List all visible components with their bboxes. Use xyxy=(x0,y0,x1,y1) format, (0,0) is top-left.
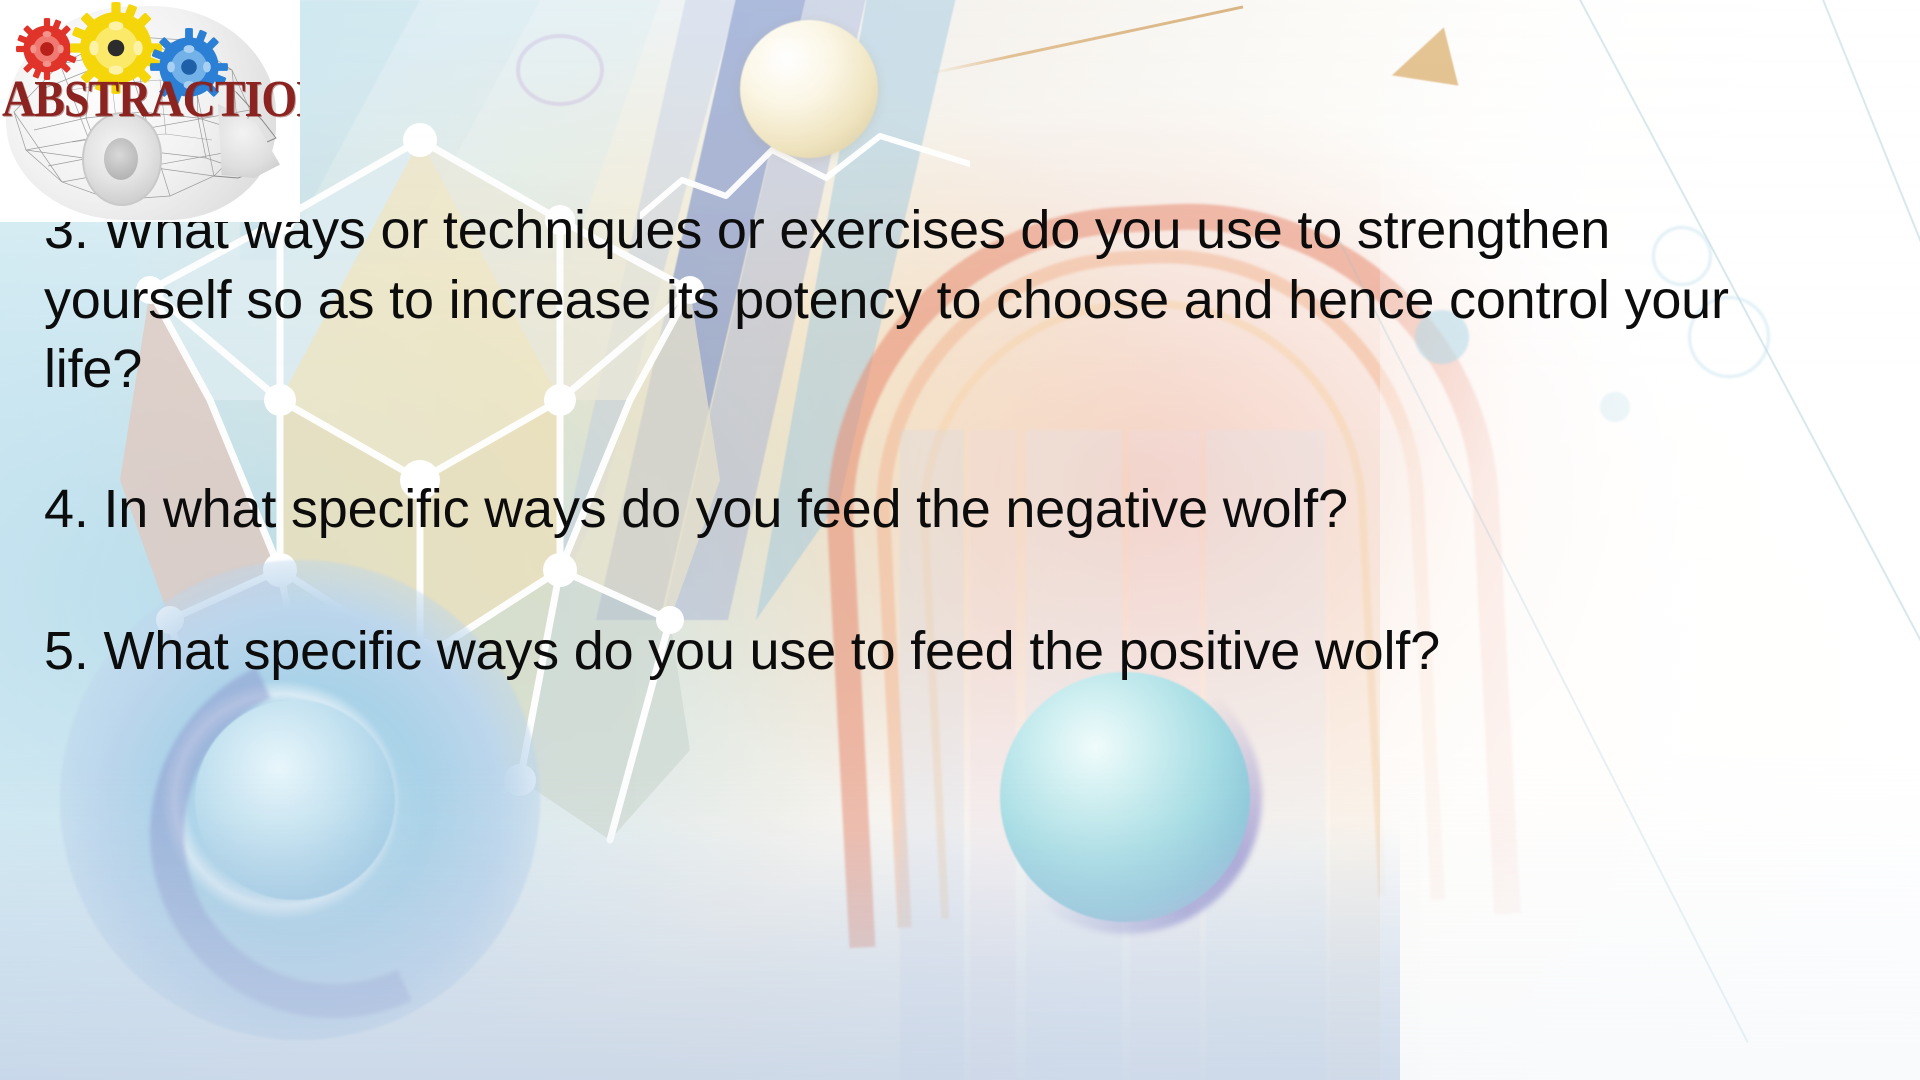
ivory-sphere xyxy=(740,20,878,158)
bottom-blue-wash xyxy=(0,820,1400,1080)
abstraction-wordmark: ABSTRACTION xyxy=(2,73,250,125)
question-3: 3. What ways or techniques or exercises … xyxy=(44,196,1804,405)
question-4: 4. In what specific ways do you feed the… xyxy=(44,475,1844,545)
tan-arrow-head xyxy=(1384,27,1459,100)
questions-text-block: 3. What ways or techniques or exercises … xyxy=(44,196,1844,686)
purple-crescent xyxy=(990,662,1262,934)
spacer-1 xyxy=(44,405,1844,475)
spacer-2 xyxy=(44,545,1844,617)
blue-swirl-core xyxy=(195,700,395,900)
slide-canvas: ABSTRACTION 3. What ways or techniques o… xyxy=(0,0,1920,1080)
tan-arrow-shaft xyxy=(930,6,1244,75)
question-5: 5. What specific ways do you use to feed… xyxy=(44,617,1844,687)
abstraction-head-logo: ABSTRACTION xyxy=(0,0,300,222)
aqua-glossy-sphere xyxy=(1000,672,1250,922)
